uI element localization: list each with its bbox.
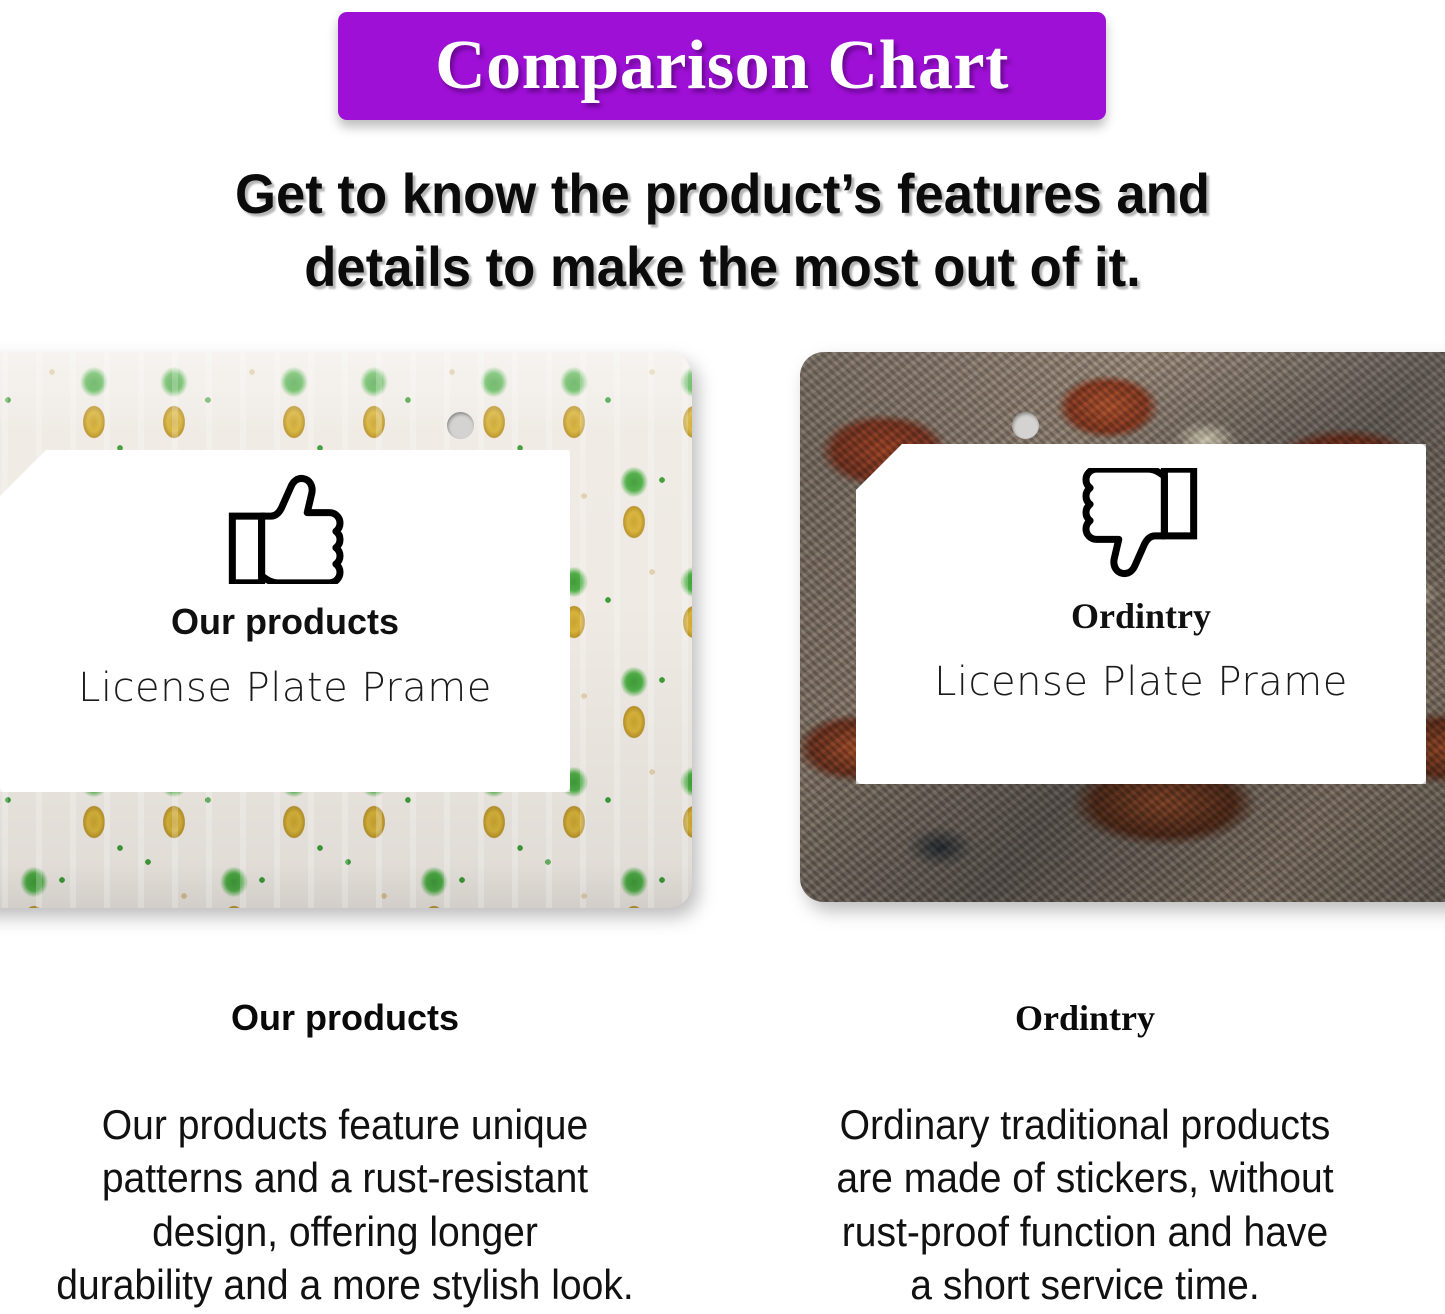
our-product-column-heading: Our products bbox=[0, 1000, 690, 1036]
page-title: Comparison Chart bbox=[435, 31, 1009, 101]
our-product-plate-window: Our products License Plate Prame bbox=[0, 450, 570, 792]
our-product-name-label: License Plate Prame bbox=[78, 668, 492, 708]
ordinary-product-frame: Ordintry License Plate Prame bbox=[800, 352, 1445, 902]
ordinary-product-brand-label: Ordintry bbox=[1071, 598, 1211, 634]
our-product-column-body: Our products feature unique patterns and… bbox=[24, 1098, 666, 1311]
our-product-brand-label: Our products bbox=[171, 604, 399, 640]
ordinary-product-name-label: License Plate Prame bbox=[934, 662, 1348, 702]
thumbs-down-icon bbox=[1082, 468, 1200, 578]
mounting-hole-icon bbox=[1012, 412, 1039, 439]
ordinary-product-column-body: Ordinary traditional products are made o… bbox=[764, 1098, 1406, 1311]
ordinary-product-column-heading: Ordintry bbox=[740, 1000, 1430, 1036]
our-product-frame: Our products License Plate Prame bbox=[0, 352, 692, 908]
our-product-description-column: Our products Our products feature unique… bbox=[0, 1000, 690, 1311]
subtitle-line-2: details to make the most out of it. bbox=[43, 231, 1401, 304]
subtitle: Get to know the product’s features and d… bbox=[43, 158, 1401, 304]
ordinary-product-description-column: Ordintry Ordinary traditional products a… bbox=[740, 1000, 1430, 1311]
thumbs-up-icon bbox=[226, 474, 344, 584]
subtitle-line-1: Get to know the product’s features and bbox=[43, 158, 1401, 231]
mounting-hole-icon bbox=[447, 412, 474, 439]
ordinary-product-plate-window: Ordintry License Plate Prame bbox=[856, 444, 1426, 784]
title-banner: Comparison Chart bbox=[338, 12, 1106, 120]
